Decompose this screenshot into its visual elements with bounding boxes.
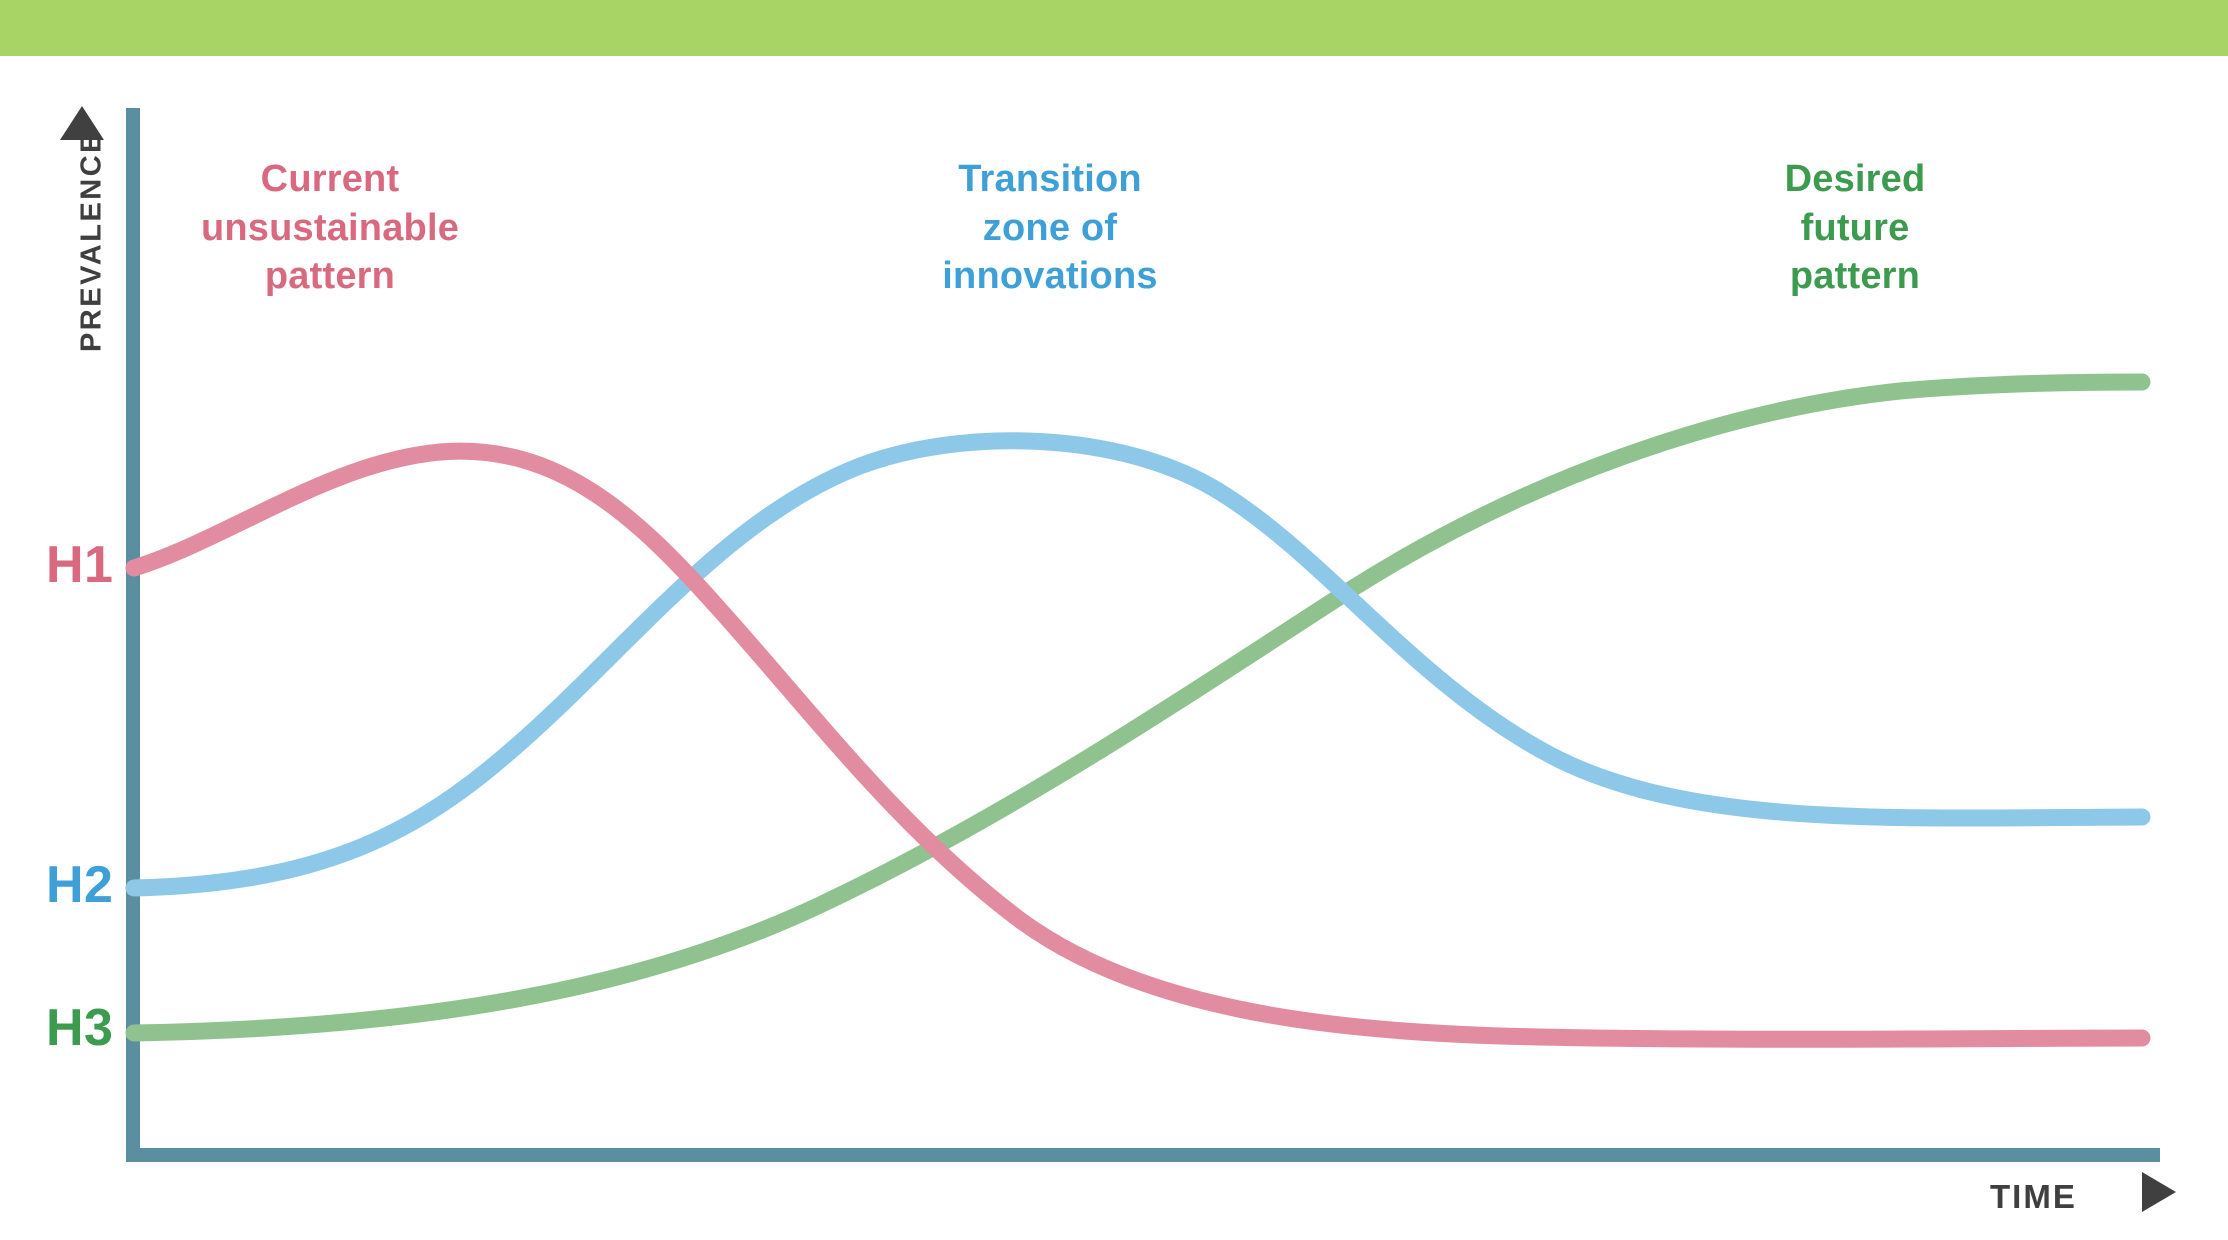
zone-label-line: Desired xyxy=(1685,155,2025,204)
y-axis-title: PREVALENCE xyxy=(76,92,109,392)
zone-label-desired-future-pattern: Desired future pattern xyxy=(1685,155,2025,301)
zone-label-transition-zone-of-innovations: Transition zone of innovations xyxy=(880,155,1220,301)
axis-tick-label-h3: H3 xyxy=(46,998,113,1058)
diagram-canvas: PREVALENCE TIME H1 H2 H3 Current unsusta… xyxy=(0,0,2228,1240)
x-axis-title: TIME xyxy=(1990,1178,2077,1216)
zone-label-line: future xyxy=(1685,204,2025,253)
zone-label-current-unsustainable-pattern: Current unsustainable pattern xyxy=(160,155,500,301)
curve-h2-transition-zone xyxy=(134,441,2142,888)
zone-label-line: Current xyxy=(160,155,500,204)
zone-label-line: pattern xyxy=(160,252,500,301)
zone-label-line: zone of xyxy=(880,204,1220,253)
zone-label-line: unsustainable xyxy=(160,204,500,253)
axis-tick-label-h2: H2 xyxy=(46,855,113,915)
axis-tick-label-h1: H1 xyxy=(46,535,113,595)
zone-label-line: Transition xyxy=(880,155,1220,204)
triangle-right-icon xyxy=(2142,1172,2176,1212)
zone-label-line: pattern xyxy=(1685,252,2025,301)
curve-h1-current-pattern xyxy=(134,451,2142,1039)
curve-h3-desired-future xyxy=(134,382,2142,1033)
zone-label-line: innovations xyxy=(880,252,1220,301)
